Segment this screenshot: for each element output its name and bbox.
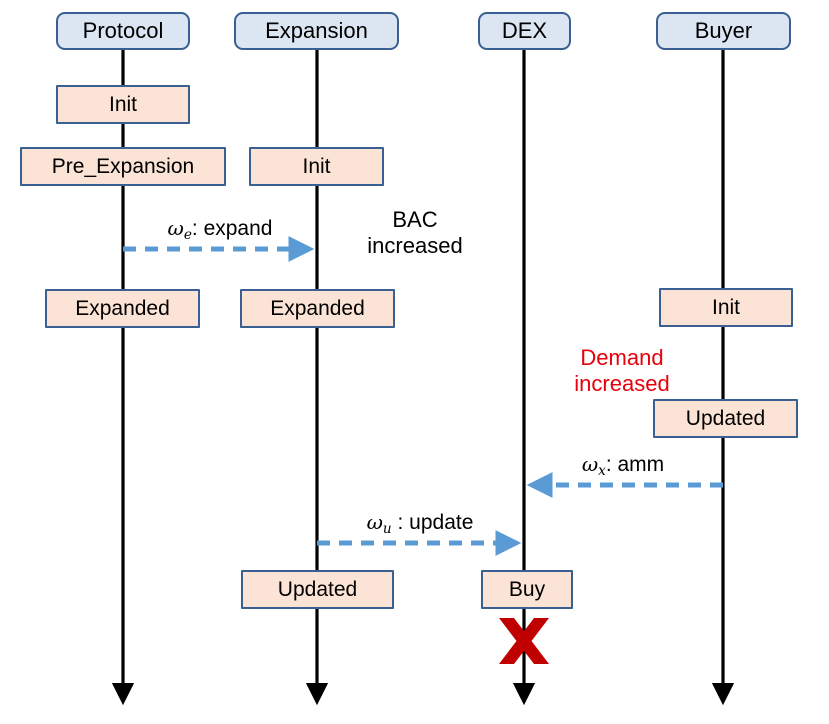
- state-box-buyer-init[interactable]: Init: [659, 288, 793, 327]
- note-demand-line2: increased: [542, 371, 702, 397]
- message-label-update: ωu : update: [320, 510, 520, 535]
- message-omega-symbol-update: ω: [367, 510, 383, 534]
- state-box-expansion-expanded[interactable]: Expanded: [240, 289, 395, 328]
- state-label-protocol-init: Init: [109, 94, 137, 115]
- state-label-dex-buy: Buy: [509, 579, 545, 600]
- state-box-protocol-expanded[interactable]: Expanded: [45, 289, 200, 328]
- state-label-expansion-expanded: Expanded: [270, 298, 365, 319]
- message-omega-subscript-expand: e: [184, 227, 192, 243]
- message-name-amm: amm: [617, 453, 664, 476]
- state-box-protocol-pre-expansion[interactable]: Pre_Expansion: [20, 147, 226, 186]
- message-omega-amm: ωx: [582, 452, 606, 476]
- lifeline-header-dex[interactable]: DEX: [478, 12, 571, 50]
- note-bac-increased: BAC increased: [335, 207, 495, 258]
- lifeline-header-expansion[interactable]: Expansion: [234, 12, 399, 50]
- note-bac-line1: BAC: [335, 207, 495, 233]
- state-label-expansion-init: Init: [302, 156, 330, 177]
- message-omega-expand: ωe: [168, 216, 192, 240]
- message-name-update: update: [409, 511, 473, 534]
- message-label-expand: ωe: expand: [120, 216, 320, 241]
- message-omega-subscript-amm: x: [598, 463, 606, 479]
- message-separator-expand: :: [192, 217, 204, 240]
- message-omega-update: ωu: [367, 510, 392, 534]
- message-separator-update: :: [392, 511, 410, 534]
- message-label-amm: ωx: amm: [523, 452, 723, 477]
- state-label-protocol-pre-expansion: Pre_Expansion: [52, 156, 194, 177]
- message-omega-symbol-expand: ω: [168, 216, 184, 240]
- state-label-expansion-updated: Updated: [278, 579, 357, 600]
- state-box-protocol-init[interactable]: Init: [56, 85, 190, 124]
- message-omega-subscript-update: u: [383, 521, 392, 537]
- message-name-expand: expand: [204, 217, 273, 240]
- state-box-buyer-updated[interactable]: Updated: [653, 399, 798, 438]
- lifeline-header-buyer[interactable]: Buyer: [656, 12, 791, 50]
- state-box-expansion-updated[interactable]: Updated: [241, 570, 394, 609]
- state-box-dex-buy[interactable]: Buy: [481, 570, 573, 609]
- lifeline-label-expansion: Expansion: [265, 20, 368, 42]
- message-omega-symbol-amm: ω: [582, 452, 598, 476]
- state-label-buyer-updated: Updated: [686, 408, 765, 429]
- state-label-protocol-expanded: Expanded: [75, 298, 170, 319]
- message-separator-amm: :: [606, 453, 618, 476]
- lifeline-label-dex: DEX: [502, 20, 547, 42]
- lifeline-label-protocol: Protocol: [83, 20, 164, 42]
- note-bac-line2: increased: [335, 233, 495, 259]
- note-demand-line1: Demand: [542, 345, 702, 371]
- state-box-expansion-init[interactable]: Init: [249, 147, 384, 186]
- note-demand-increased: Demand increased: [542, 345, 702, 396]
- sequence-diagram: Protocol Expansion DEX Buyer Init Pre_Ex…: [0, 0, 829, 724]
- lifeline-header-protocol[interactable]: Protocol: [56, 12, 190, 50]
- lifeline-label-buyer: Buyer: [695, 20, 752, 42]
- state-label-buyer-init: Init: [712, 297, 740, 318]
